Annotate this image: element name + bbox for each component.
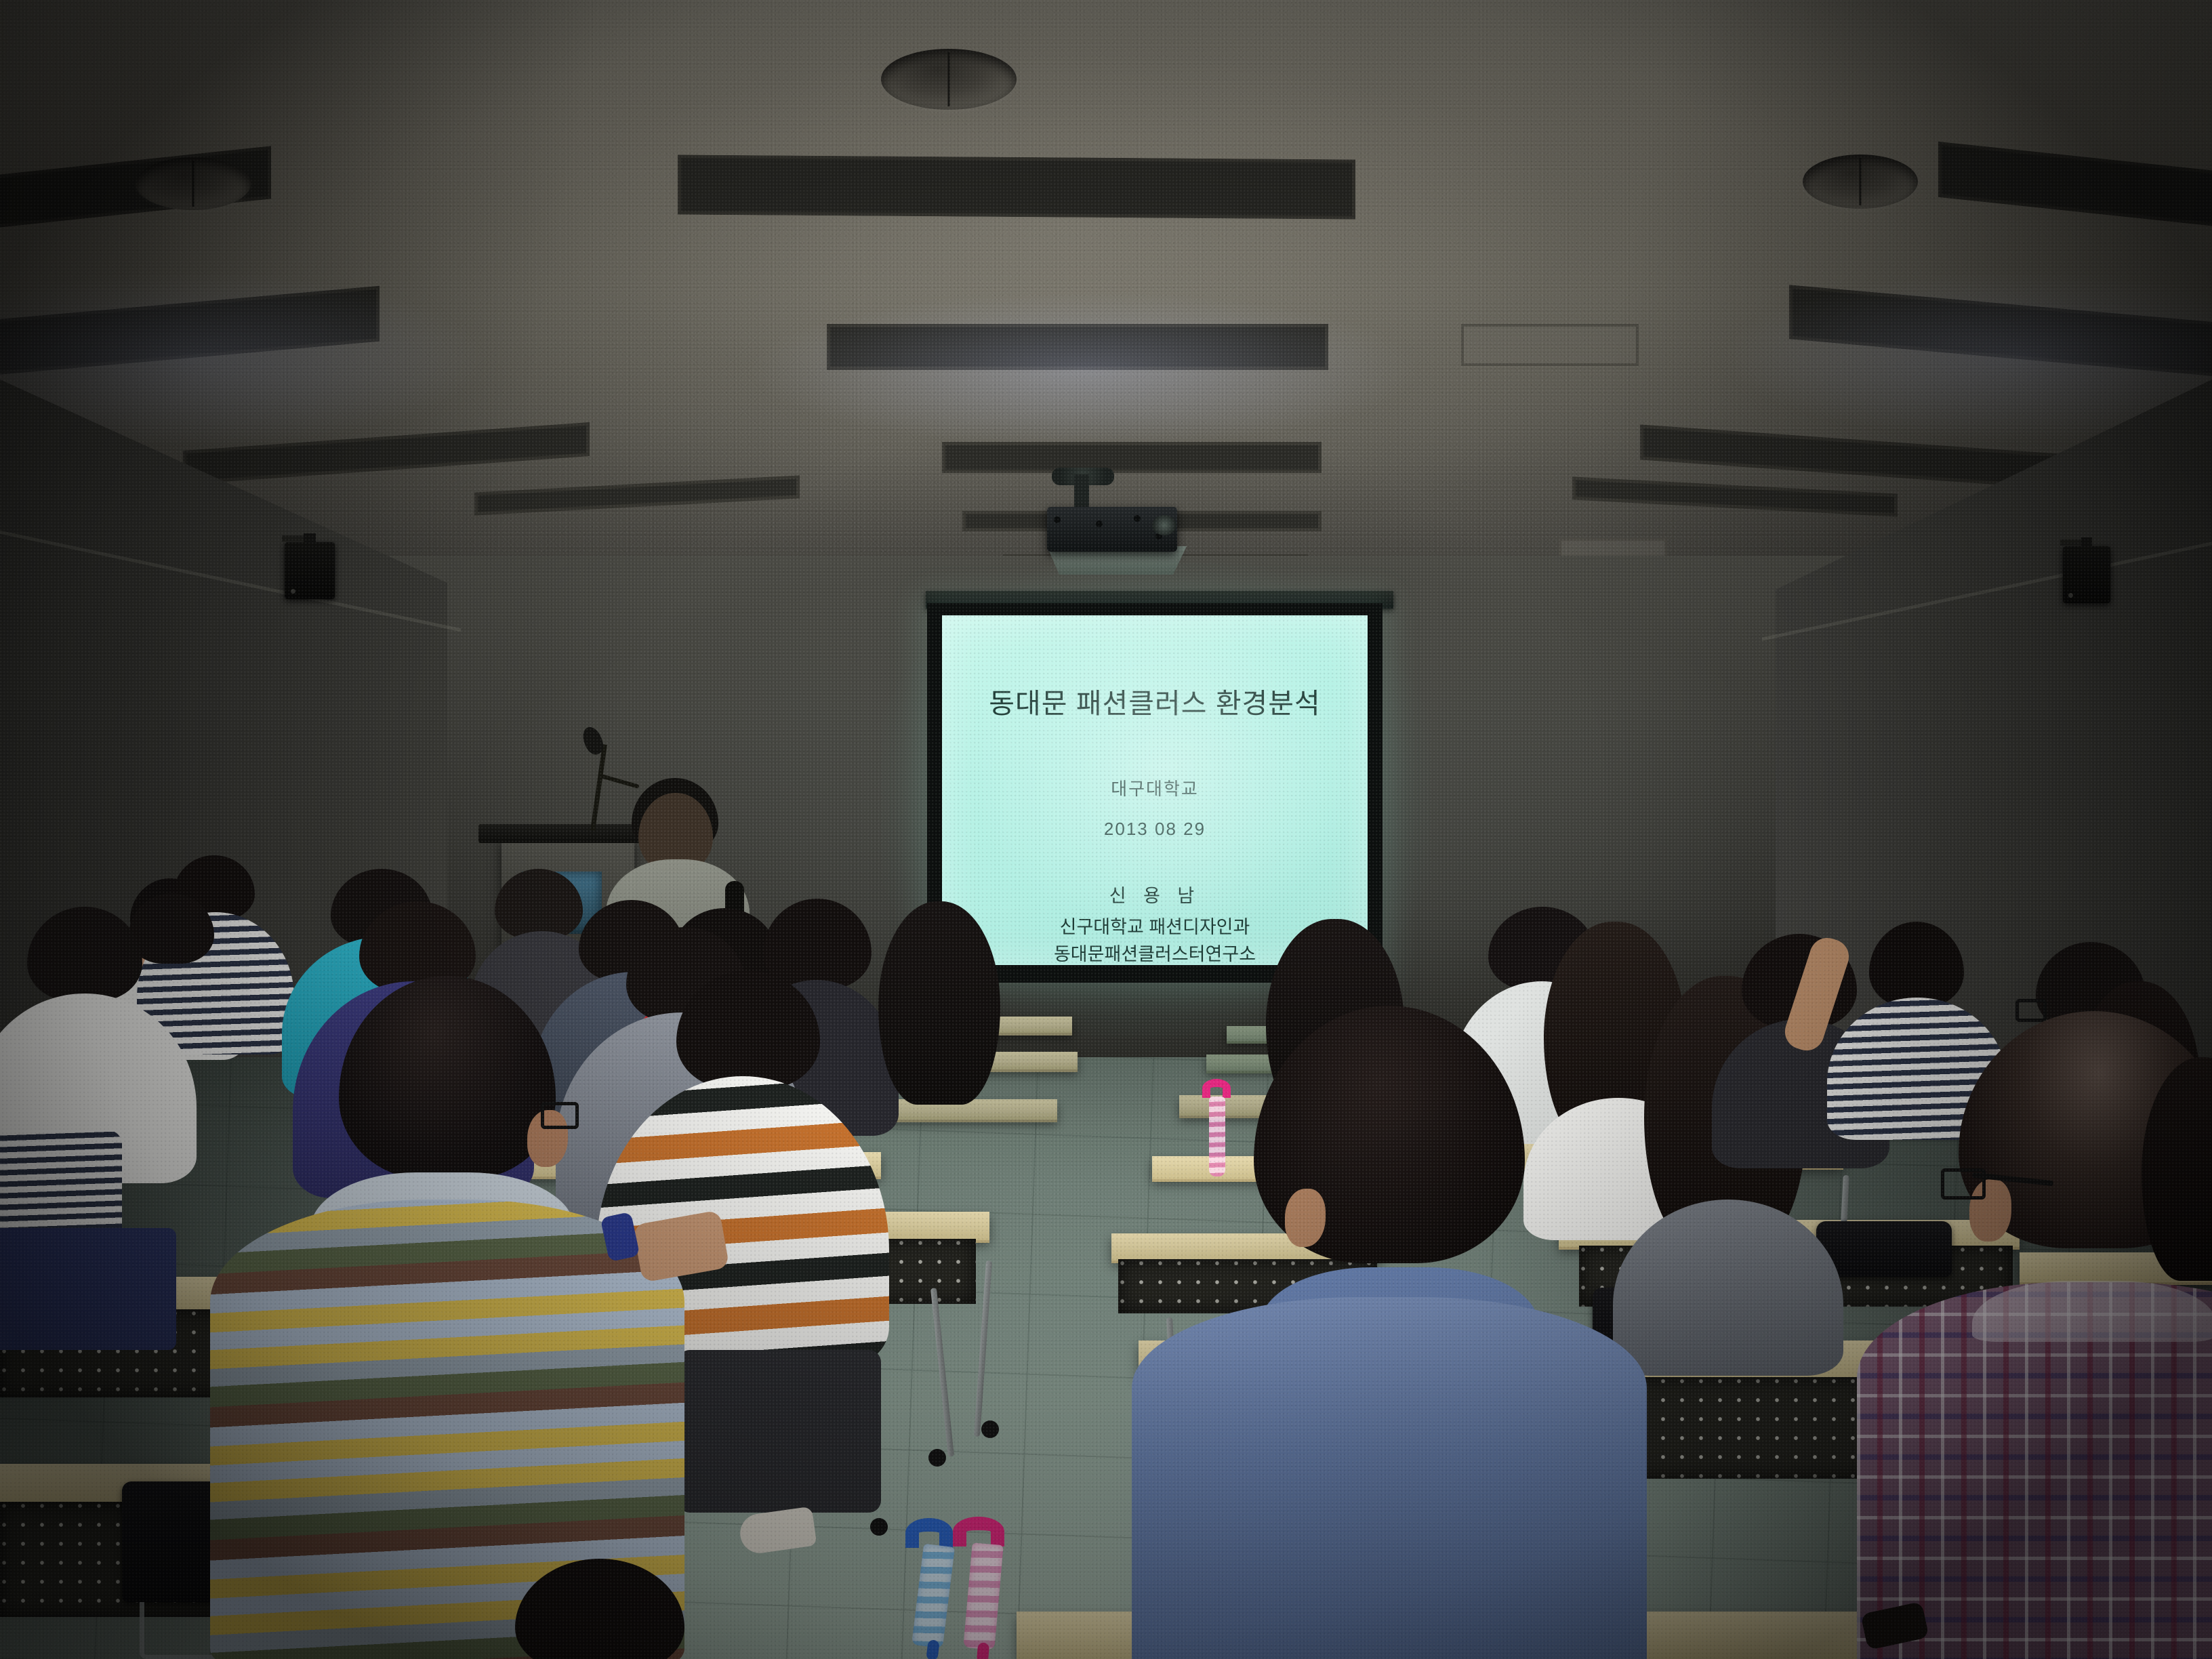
blue-polo-shirt: [1132, 1297, 1647, 1659]
audience-member: [515, 1559, 691, 1659]
shorts: [0, 1228, 176, 1350]
umbrella-tip-pink: [977, 1642, 990, 1659]
wall-speaker-left: [285, 542, 335, 599]
chair-caster: [928, 1449, 946, 1467]
umbrella-tip-blue: [926, 1639, 940, 1659]
chair-caster: [981, 1420, 999, 1438]
slide-date: 2013 08 29: [942, 819, 1368, 840]
hair: [339, 976, 556, 1179]
chair-caster: [870, 1518, 888, 1536]
audience-blue-polo: [1152, 1006, 1626, 1659]
slide-university: 대구대학교: [942, 775, 1368, 800]
projector-lens: [1152, 515, 1176, 535]
umbrella-canopy-pink: [963, 1542, 1003, 1650]
umbrella-handle-blue: [905, 1518, 953, 1548]
audience-striped-polo: [230, 976, 664, 1659]
ear: [1285, 1189, 1326, 1247]
eyeglasses[interactable]: [541, 1102, 579, 1129]
lecture-hall-photo: 동대문 패션클러스 환경분석 대구대학교 2013 08 29 신 용 남 신구…: [0, 0, 2212, 1659]
umbrella-handle-pink: [953, 1517, 1004, 1547]
children-umbrella-pink: [947, 1517, 1029, 1656]
slide-title: 동대문 패션클러스 환경분석: [942, 680, 1368, 721]
shorts: [678, 1350, 881, 1513]
projector-mount-pole: [1074, 474, 1089, 510]
wall-speaker-right: [2063, 546, 2110, 603]
hair: [676, 970, 820, 1090]
audience-thin-stripe-tee: [0, 907, 210, 1246]
audience-member: [2142, 1057, 2212, 1328]
